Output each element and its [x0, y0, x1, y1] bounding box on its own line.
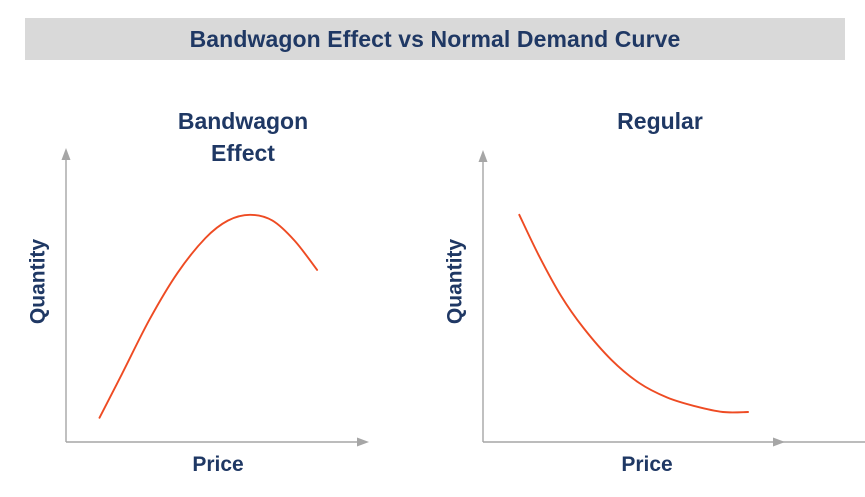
normal-demand-curve — [519, 215, 748, 413]
y-axis-label-quantity: Quantity — [445, 202, 466, 362]
page-title: Bandwagon Effect vs Normal Demand Curve — [190, 28, 681, 51]
chart-panel-regular: Regular Price Quantity — [420, 80, 865, 497]
bandwagon-effect-chart — [0, 80, 435, 497]
regular-demand-chart — [420, 80, 865, 497]
chart-panel-bandwagon: Bandwagon Effect Price Quantity — [0, 80, 435, 497]
y-axis-label-quantity: Quantity — [28, 202, 49, 362]
x-axis-label-price: Price — [567, 454, 727, 475]
bandwagon-demand-curve — [99, 215, 317, 418]
slide-canvas: Bandwagon Effect vs Normal Demand Curve … — [0, 0, 865, 497]
y-axis-arrowhead — [479, 150, 488, 162]
x-axis-arrowhead — [357, 438, 369, 447]
title-banner: Bandwagon Effect vs Normal Demand Curve — [25, 18, 845, 60]
y-axis-arrowhead — [62, 148, 71, 160]
x-axis-arrowhead — [773, 438, 785, 447]
x-axis-label-price: Price — [138, 454, 298, 475]
